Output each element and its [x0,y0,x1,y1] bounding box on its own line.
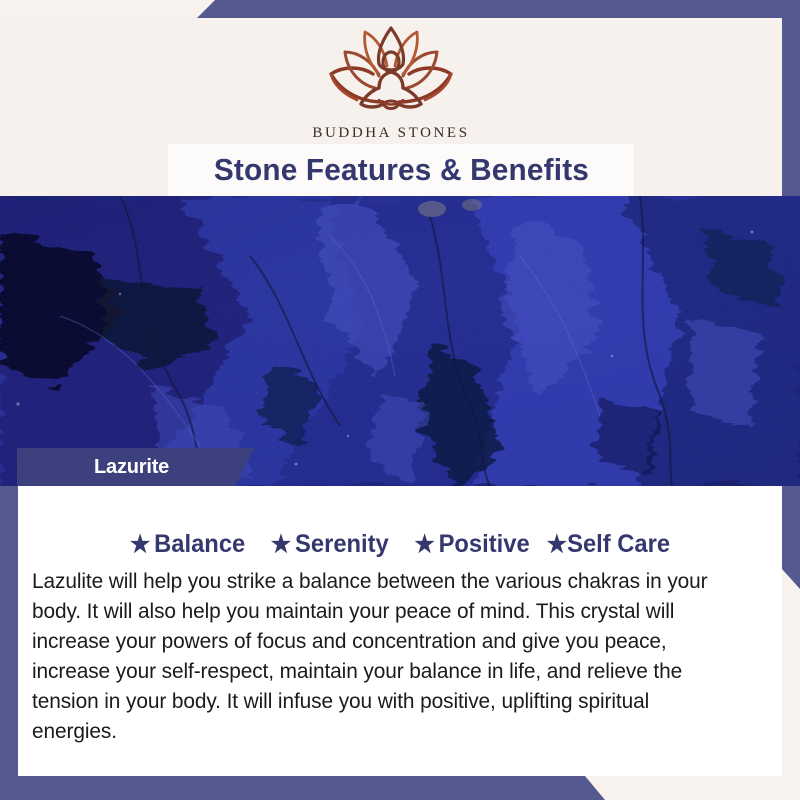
benefit-self-care: ★Self Care [547,530,670,559]
benefit-label: Positive [439,530,530,559]
stone-description: Lazulite will help you strike a balance … [32,566,728,746]
top-accent-band [0,0,800,18]
page-title: Stone Features & Benefits [213,152,588,188]
benefit-serenity: ★Serenity [271,530,389,559]
stone-name: Lazurite [94,456,169,479]
benefit-label: Self Care [567,530,670,559]
brand-logo: BUDDHA STONES [0,22,782,142]
lazurite-stone-photo [0,196,800,486]
benefit-label: Serenity [295,530,389,559]
bottom-accent-band [0,776,800,800]
benefit-balance: ★Balance [130,530,245,559]
brand-name: BUDDHA STONES [0,125,782,142]
left-accent-strip-bottom [0,486,18,776]
benefits-row: ★Balance ★Serenity ★Positive ★Self Care [37,530,763,559]
lotus-meditation-figure-icon [0,22,782,123]
right-accent-strip-bottom [782,486,800,589]
star-icon: ★ [271,533,291,557]
star-icon: ★ [547,533,567,557]
benefit-label: Balance [154,530,245,559]
stone-name-label: Lazurite [17,448,255,486]
star-icon: ★ [130,533,150,557]
star-icon: ★ [414,533,434,557]
title-banner: Stone Features & Benefits [168,144,634,196]
infographic-card: BUDDHA STONES Stone Features & Benefits [0,0,800,800]
benefit-positive: ★Positive [414,530,529,559]
right-accent-strip-top [782,0,800,196]
